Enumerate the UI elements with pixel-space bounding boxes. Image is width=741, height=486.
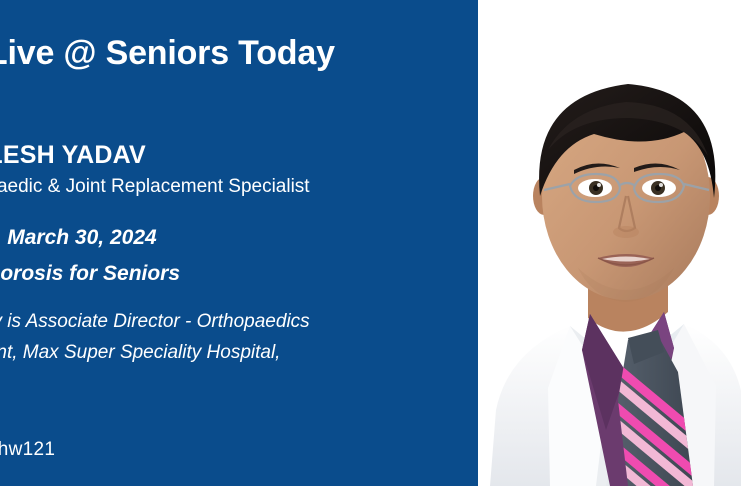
- event-date: rday, March 30, 2024: [0, 224, 157, 251]
- info-panel: th Live @ Seniors Today HILESH YADAV tho…: [0, 0, 478, 486]
- speaker-bio-line: esh Yadav is Associate Director - Orthop…: [0, 306, 474, 337]
- speaker-bio-line: eplacement, Max Super Speciality Hospita…: [0, 337, 474, 368]
- registration-url[interactable]: .ly/st_hw121: [0, 437, 55, 463]
- speaker-role: thopaedic & Joint Replacement Specialist: [0, 174, 310, 199]
- doctor-portrait-icon: [478, 0, 741, 486]
- speaker-bio: esh Yadav is Associate Director - Orthop…: [0, 306, 474, 368]
- event-topic: teoporosis for Seniors: [0, 260, 180, 287]
- page-title: th Live @ Seniors Today: [0, 33, 466, 73]
- speaker-name: HILESH YADAV: [0, 140, 146, 170]
- event-banner: th Live @ Seniors Today HILESH YADAV tho…: [0, 0, 741, 486]
- speaker-photo: [478, 0, 741, 486]
